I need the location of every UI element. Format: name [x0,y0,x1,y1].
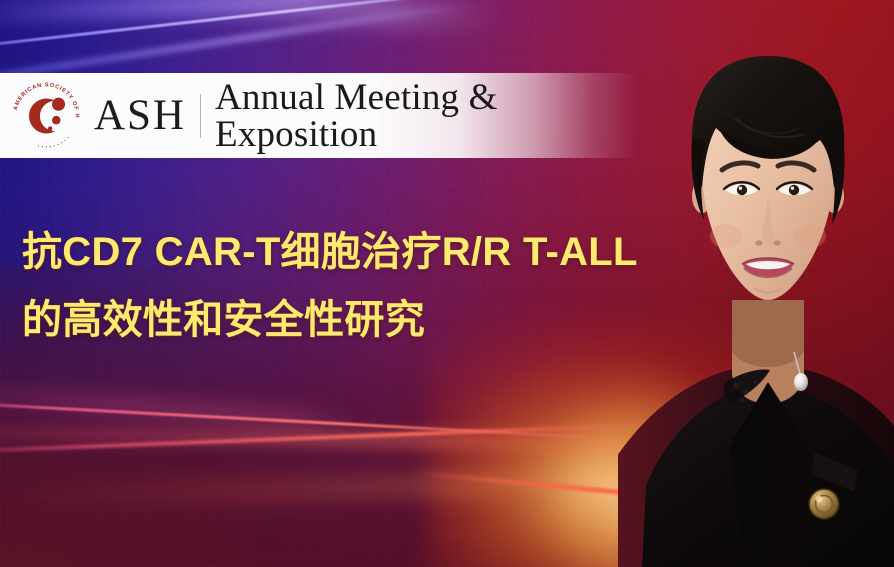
svg-text:• • • • • • • • •: • • • • • • • • • [36,135,70,149]
wordmark-divider [200,94,201,138]
slide-title: 抗CD7 CAR-T细胞治疗R/R T-ALL 的高效性和安全性研究 [22,218,682,354]
speaker-portrait [618,0,894,567]
title-line-1: 抗CD7 CAR-T细胞治疗R/R T-ALL [22,218,682,286]
svg-text:AMERICAN SOCIETY OF HEMATOLOGY: AMERICAN SOCIETY OF HEMATOLOGY [8,78,80,118]
ash-subtitle-text: Annual Meeting & Exposition [215,79,637,153]
ash-banner: AMERICAN SOCIETY OF HEMATOLOGY • • • • •… [0,73,637,158]
title-line-2: 的高效性和安全性研究 [22,286,682,354]
ash-wordmark: ASH Annual Meeting & Exposition [94,79,637,153]
ash-wordmark-text: ASH [94,94,186,137]
ash-blood-cell-logo-icon: AMERICAN SOCIETY OF HEMATOLOGY • • • • •… [8,78,84,154]
conference-title-slide: AMERICAN SOCIETY OF HEMATOLOGY • • • • •… [0,0,894,567]
